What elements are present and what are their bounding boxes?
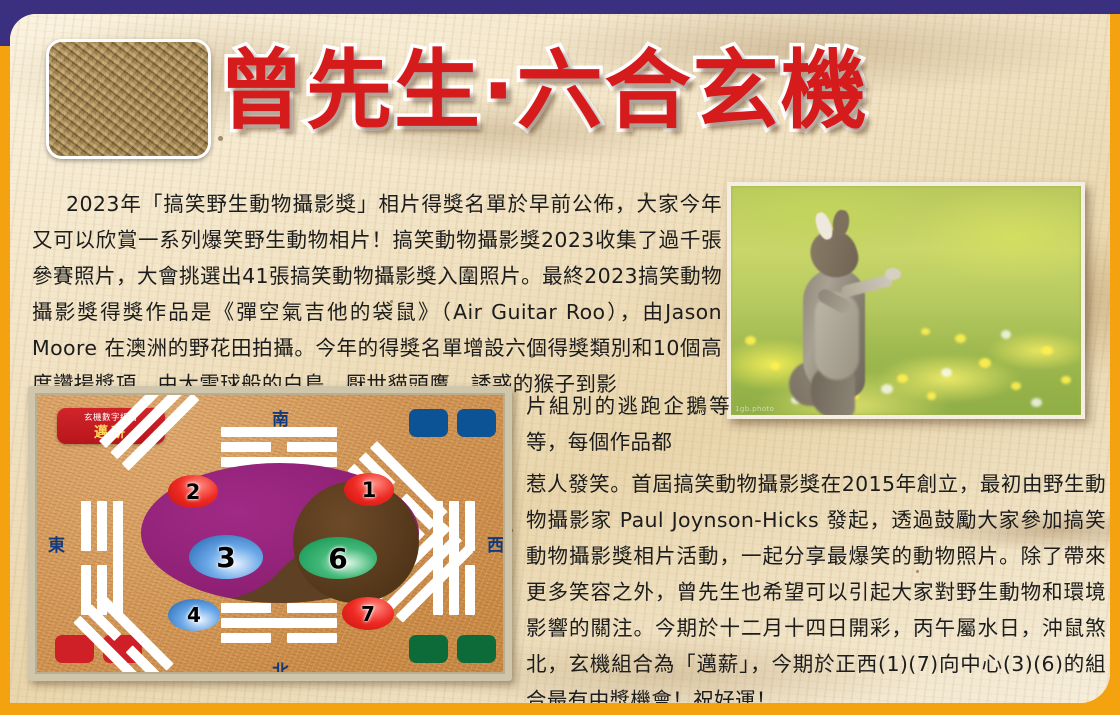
ball-6[interactable]: 6: [299, 537, 377, 579]
granite-texture-logo: [46, 39, 211, 159]
chip-top-right-1: [409, 409, 448, 437]
article-paragraph-1-text: 2023年「搞笑野生動物攝影獎」相片得獎名單於早前公佈，大家今年又可以欣賞一系列…: [32, 192, 722, 396]
direction-label-east: 東: [48, 531, 65, 556]
ball-4[interactable]: 4: [168, 599, 220, 631]
article-paragraph-2: 片組別的逃跑企鵝等等，每個作品都: [526, 388, 730, 460]
ball-1[interactable]: 1: [344, 473, 394, 506]
chip-top-right-2: [457, 409, 496, 437]
ball-2[interactable]: 2: [168, 475, 218, 508]
chip-bottom-left-1: [55, 635, 94, 663]
page-title: 曾先生·六合玄機: [218, 48, 869, 134]
photo-watermark: 1gb.photo: [735, 405, 774, 413]
parchment-canvas: 曾先生·六合玄機: [10, 14, 1110, 703]
direction-label-west: 西: [487, 531, 504, 556]
ball-7[interactable]: 7: [342, 597, 394, 630]
chip-bottom-right-1: [409, 635, 448, 663]
direction-label-north: 北: [272, 657, 289, 674]
bagua-board: 玄機數字組合 邁薪 南 北 東 西: [28, 386, 512, 681]
kangaroo-figure: [789, 206, 909, 418]
bagua-board-cork: 玄機數字組合 邁薪 南 北 東 西: [35, 393, 505, 674]
kangaroo-photo: 1gb.photo: [727, 182, 1085, 419]
article-paragraph-1: 2023年「搞笑野生動物攝影獎」相片得獎名單於早前公佈，大家今年又可以欣賞一系列…: [32, 186, 722, 402]
page-frame: 曾先生·六合玄機: [0, 0, 1120, 715]
article-paragraph-3: 惹人發笑。首屆搞笑動物攝影獎在2015年創立，最初由野生動物攝影家 Paul J…: [526, 466, 1106, 703]
chip-bottom-right-2: [457, 635, 496, 663]
ball-3[interactable]: 3: [189, 535, 263, 579]
